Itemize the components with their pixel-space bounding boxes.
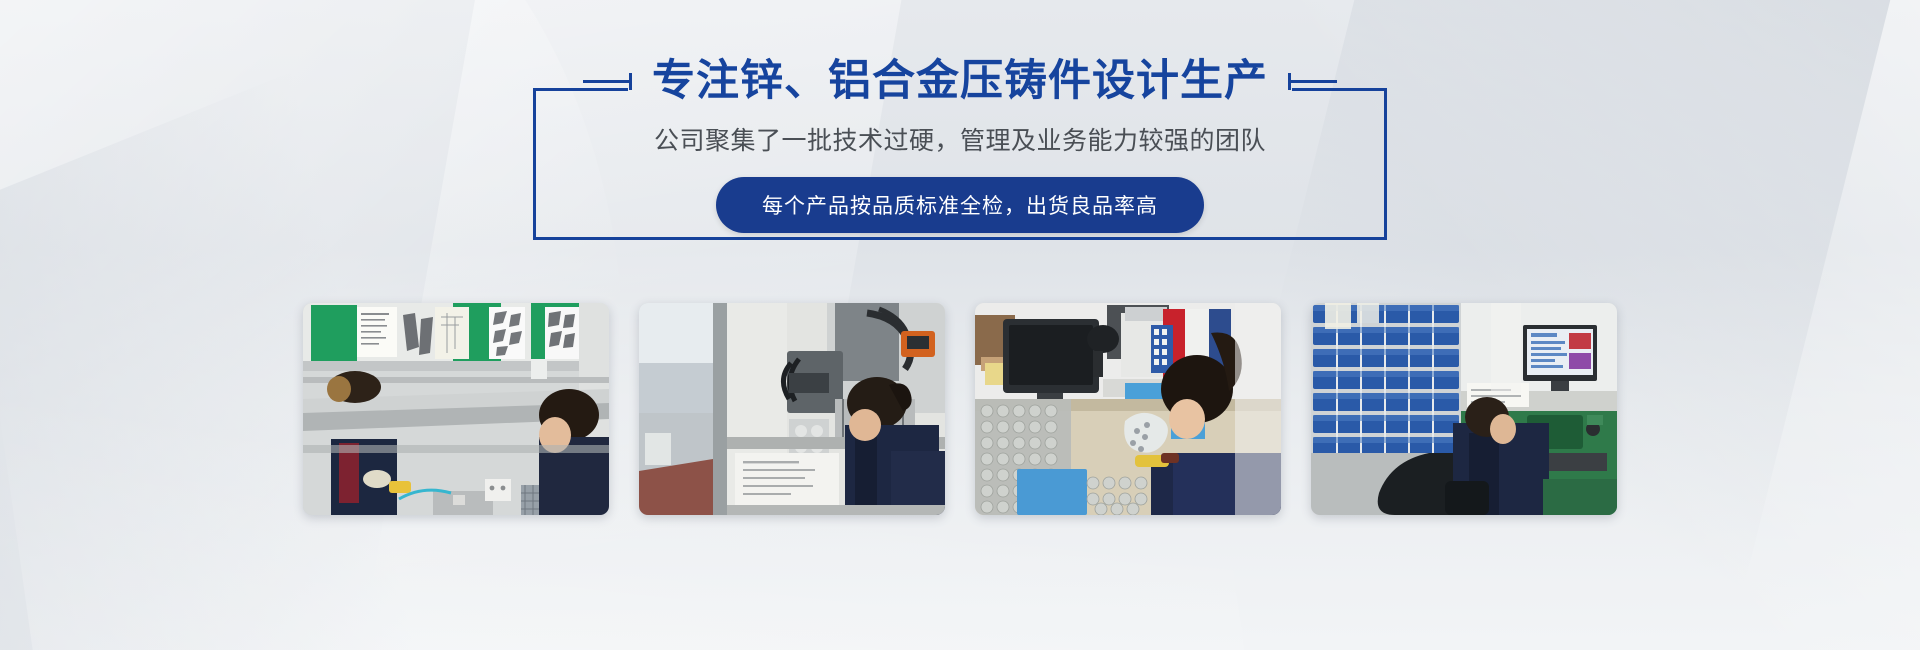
photo-parts-packing-desk[interactable] xyxy=(975,303,1281,515)
left-tick-icon xyxy=(583,73,632,90)
photo-warehouse-workstation[interactable] xyxy=(1311,303,1617,515)
photo-strip xyxy=(0,303,1920,515)
photo-die-casting-machine[interactable] xyxy=(639,303,945,515)
headline-block: 专注锌、铝合金压铸件设计生产 公司聚集了一批技术过硬，管理及业务能力较强的团队 … xyxy=(0,58,1920,233)
photo-workshop-inspection[interactable] xyxy=(303,303,609,515)
right-tick-icon xyxy=(1288,73,1337,90)
title-row: 专注锌、铝合金压铸件设计生产 xyxy=(583,58,1337,105)
page-title: 专注锌、铝合金压铸件设计生产 xyxy=(652,58,1268,105)
promo-banner: 专注锌、铝合金压铸件设计生产 公司聚集了一批技术过硬，管理及业务能力较强的团队 … xyxy=(0,0,1920,650)
quality-badge: 每个产品按品质标准全检，出货良品率高 xyxy=(716,177,1204,233)
subtitle-text: 公司聚集了一批技术过硬，管理及业务能力较强的团队 xyxy=(654,121,1266,157)
